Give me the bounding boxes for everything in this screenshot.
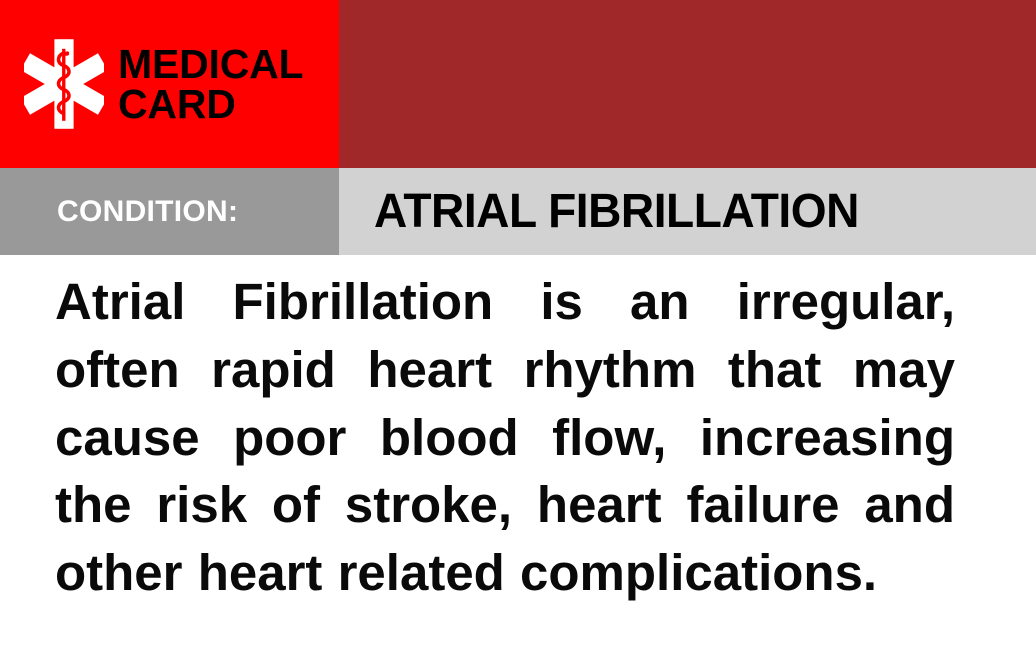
- condition-label-cell: CONDITION:: [0, 168, 339, 255]
- brand-name-line-2: CARD: [118, 84, 303, 124]
- star-of-life-icon: [24, 39, 104, 129]
- brand-block: MEDICAL CARD: [0, 0, 339, 168]
- brand-name-line-1: MEDICAL: [118, 44, 303, 84]
- description-area: Atrial Fibrillation is an irregular, oft…: [55, 268, 955, 628]
- card-header: MEDICAL CARD: [0, 0, 1036, 168]
- condition-band: CONDITION: ATRIAL FIBRILLATION: [0, 168, 1036, 255]
- condition-label: CONDITION:: [57, 195, 238, 229]
- brand-name: MEDICAL CARD: [118, 44, 303, 124]
- condition-value-cell: ATRIAL FIBRILLATION: [339, 168, 1036, 255]
- medical-card: MEDICAL CARD CONDITION: ATRIAL FIBRILLAT…: [0, 0, 1036, 660]
- condition-value: ATRIAL FIBRILLATION: [374, 184, 859, 239]
- header-accent-panel: [339, 0, 1036, 168]
- condition-description: Atrial Fibrillation is an irregular, oft…: [55, 268, 955, 607]
